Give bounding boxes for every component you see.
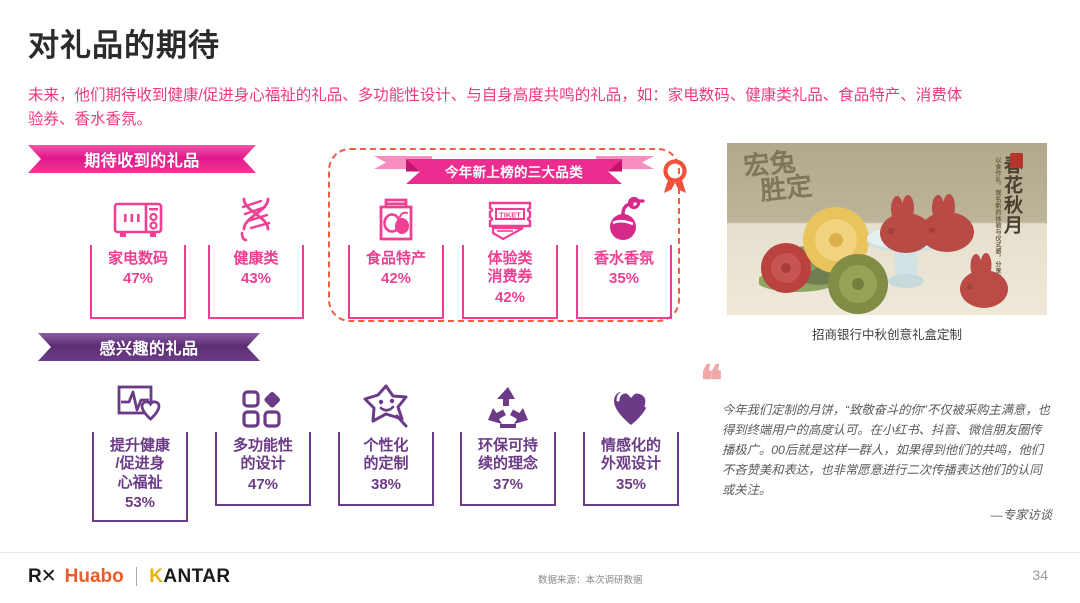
interest-item-label-line3: 心福祉	[96, 474, 184, 492]
gift-item-food-specialty[interactable]: 食品特产 42%	[348, 185, 444, 319]
gift-item-value: 47%	[94, 269, 182, 289]
page-subtitle: 未来，他们期待收到健康/促进身心福祉的礼品、多功能性设计、与自身高度共鸣的礼品，…	[28, 84, 968, 132]
interest-item-box: 情感化的 外观设计 35%	[583, 432, 679, 506]
page-number: 34	[1032, 567, 1048, 583]
gift-item-value: 43%	[212, 269, 300, 289]
gift-item-label: 香水香氛	[580, 250, 668, 268]
interest-item-label-line2: 外观设计	[587, 455, 675, 473]
ribbon-banner-label: 今年新上榜的三大品类	[372, 152, 656, 186]
huabo-logo: Huabo	[65, 566, 124, 588]
health-heart-icon	[92, 372, 188, 430]
gift-item-home-appliance[interactable]: 家电数码 47%	[90, 185, 186, 319]
rabbit-mooncake-front	[955, 249, 1013, 311]
gift-item-box: 家电数码 47%	[90, 245, 186, 319]
interest-item-health-wellbeing[interactable]: 提升健康 /促进身 心福祉 53%	[92, 372, 188, 522]
gift-item-label-line2: 消费券	[466, 268, 554, 286]
section-banner-interested-label: 感兴趣的礼品	[89, 335, 208, 359]
ribbon-banner-new-categories: 今年新上榜的三大品类	[372, 152, 656, 186]
section-banner-interested: 感兴趣的礼品	[38, 333, 260, 361]
ticket-icon: TIKET	[462, 185, 558, 243]
gift-item-box: 食品特产 42%	[348, 245, 444, 319]
interest-item-sustainability[interactable]: 环保可持 续的理念 37%	[460, 372, 556, 506]
gift-item-label: 食品特产	[352, 250, 440, 268]
recycle-icon	[460, 372, 556, 430]
interest-item-value: 47%	[219, 475, 307, 495]
interest-item-value: 38%	[342, 475, 430, 495]
gift-item-label-line1: 体验类	[466, 250, 554, 268]
quote-block: ❝ 今年我们定制的月饼，“致敬奋斗的你”不仅被采购主满意，也得到终端用户的高度认…	[700, 368, 1052, 523]
gift-item-box: 体验类 消费券 42%	[462, 245, 558, 319]
interest-item-label-line2: 的定制	[342, 455, 430, 473]
gift-item-box: 健康类 43%	[208, 245, 304, 319]
gift-item-value: 35%	[580, 269, 668, 289]
quote-attribution: —专家访谈	[700, 505, 1052, 523]
microwave-icon	[90, 185, 186, 243]
kantar-logo: KANTAR	[149, 566, 230, 588]
food-bag-icon	[348, 185, 444, 243]
interest-item-label-line1: 情感化的	[587, 437, 675, 455]
gift-item-label: 健康类	[212, 250, 300, 268]
interest-item-box: 环保可持 续的理念 37%	[460, 432, 556, 506]
quote-mark-icon: ❝	[700, 368, 1052, 397]
interest-item-label-line1: 多功能性	[219, 437, 307, 455]
rabbit-mooncake-right	[915, 191, 979, 255]
footer-logos: R✕ Huabo KANTAR	[28, 565, 230, 588]
gift-item-value: 42%	[352, 269, 440, 289]
kantar-logo-rest: ANTAR	[163, 566, 230, 587]
section-banner-expected-label: 期待收到的礼品	[74, 147, 210, 171]
interest-item-box: 多功能性 的设计 47%	[215, 432, 311, 506]
interest-item-label-line2: /促进身	[96, 455, 184, 473]
interest-item-multifunctional-design[interactable]: 多功能性 的设计 47%	[215, 372, 311, 506]
product-caption: 招商银行中秋创意礼盒定制	[727, 324, 1047, 343]
interest-item-personalization[interactable]: 个性化 的定制 38%	[338, 372, 434, 506]
interest-item-label-line2: 的设计	[219, 455, 307, 473]
interest-item-label-line1: 环保可持	[464, 437, 552, 455]
heart-design-icon	[583, 372, 679, 430]
interest-item-value: 53%	[96, 493, 184, 513]
interest-item-label-line1: 提升健康	[96, 437, 184, 455]
footer-divider	[0, 552, 1080, 553]
product-card: 宏兔 胜定 春花秋月 以食作礼，观名新的体验与仪式感，分享美意	[727, 143, 1047, 343]
calligraphy-left-line2: 胜定	[759, 174, 813, 205]
seal-stamp-icon	[1010, 153, 1023, 168]
gift-item-value: 42%	[466, 288, 554, 308]
interest-item-box: 个性化 的定制 38%	[338, 432, 434, 506]
dna-icon	[208, 185, 304, 243]
modules-icon	[215, 372, 311, 430]
section-banner-expected: 期待收到的礼品	[28, 145, 256, 173]
gift-item-experience-voucher[interactable]: TIKET 体验类 消费券 42%	[462, 185, 558, 319]
interest-item-label-line1: 个性化	[342, 437, 430, 455]
gift-item-box: 香水香氛 35%	[576, 245, 672, 319]
interest-item-box: 提升健康 /促进身 心福祉 53%	[92, 432, 188, 522]
rx-logo: R✕	[28, 565, 56, 588]
interest-item-value: 37%	[464, 475, 552, 495]
interest-item-label-line2: 续的理念	[464, 455, 552, 473]
product-photo: 宏兔 胜定 春花秋月 以食作礼，观名新的体验与仪式感，分享美意	[727, 143, 1047, 315]
calligraphy-left: 宏兔 胜定	[742, 148, 813, 207]
interest-item-value: 35%	[587, 475, 675, 495]
quote-text: 今年我们定制的月饼，“致敬奋斗的你”不仅被采购主满意，也得到终端用户的高度认可。…	[722, 401, 1052, 501]
perfume-icon	[576, 185, 672, 243]
gift-item-health[interactable]: 健康类 43%	[208, 185, 304, 319]
star-smile-icon	[338, 372, 434, 430]
page-title: 对礼品的期待	[28, 20, 220, 65]
source-note: 数据来源：本次调研数据	[538, 572, 643, 586]
logo-divider	[136, 567, 138, 586]
gift-item-label: 家电数码	[94, 250, 182, 268]
gift-item-perfume[interactable]: 香水香氛 35%	[576, 185, 672, 319]
interest-item-emotional-design[interactable]: 情感化的 外观设计 35%	[583, 372, 679, 506]
kantar-logo-accent: K	[149, 566, 163, 587]
svg-text:TIKET: TIKET	[499, 210, 521, 219]
